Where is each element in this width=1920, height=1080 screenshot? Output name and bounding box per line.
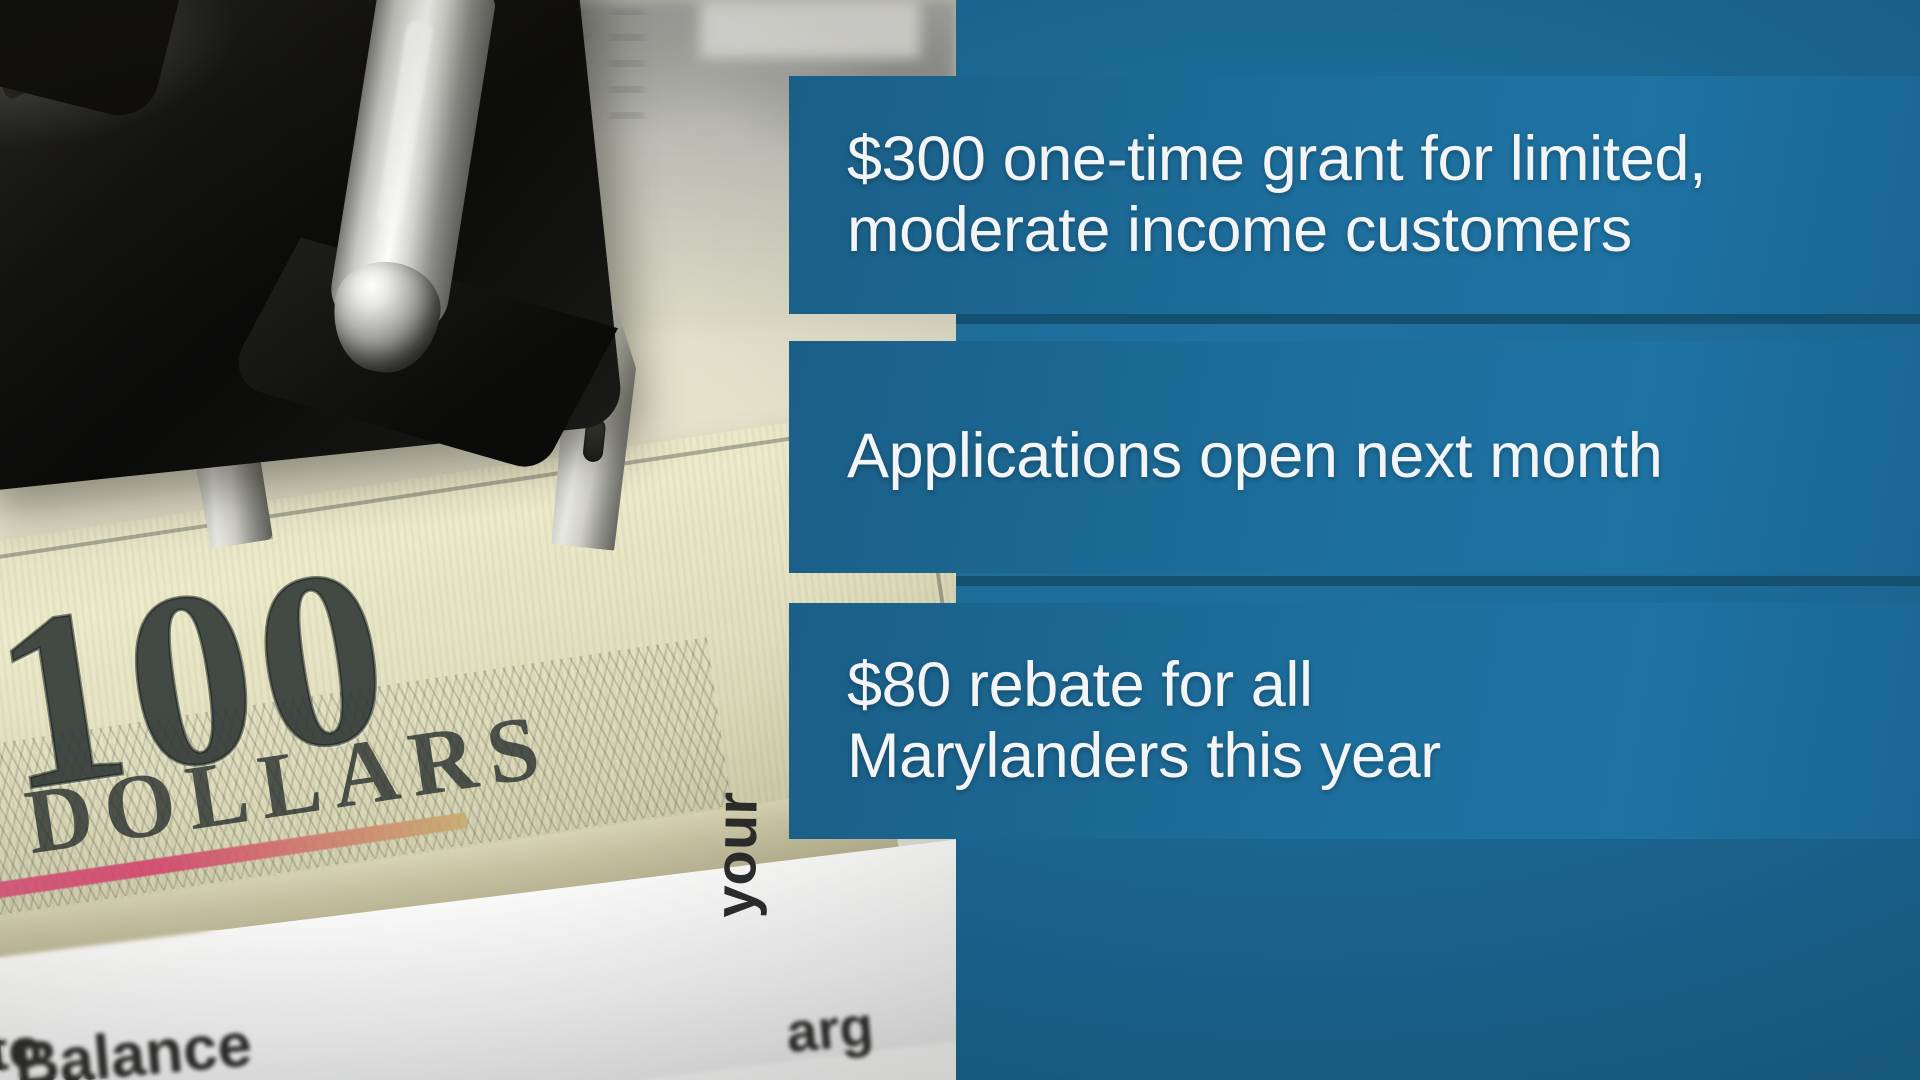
statement-word-balance: Balance <box>12 1009 255 1080</box>
photo-blurred-highlight <box>700 0 920 58</box>
news-graphic-stage: 100 DOLLARS ll to Balance ank yo your ar… <box>0 0 1920 1080</box>
plug-body <box>0 0 624 493</box>
statement-word-your: your <box>702 791 771 918</box>
bullet-panel-3: $80 rebate for all Marylanders this year <box>789 603 1920 839</box>
statement-word-charge: arg <box>784 993 876 1065</box>
panel-separator-2 <box>956 576 1920 586</box>
bullet-text-3: $80 rebate for all Marylanders this year <box>789 650 1465 792</box>
bullet-panel-1: $300 one-time grant for limited, moderat… <box>789 76 1920 314</box>
bullet-panel-2: Applications open next month <box>789 341 1920 573</box>
bullet-text-2: Applications open next month <box>789 421 1686 492</box>
panel-separator-1 <box>956 314 1920 324</box>
plug-notch <box>0 0 154 101</box>
bullet-text-1: $300 one-time grant for limited, moderat… <box>789 124 1730 266</box>
